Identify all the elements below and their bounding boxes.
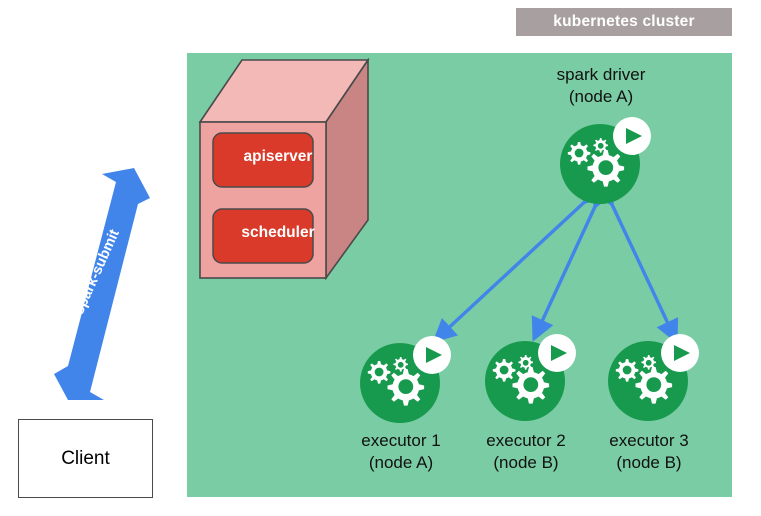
spark-driver-caption: spark driver (node A) (521, 64, 681, 108)
gear-medium-icon (493, 359, 516, 382)
spark-driver-node (556, 112, 652, 208)
client-box: Client (18, 419, 153, 498)
gear-large-icon (388, 369, 425, 406)
scheduler-label: scheduler (217, 224, 339, 242)
diagram-canvas: kubernetes cluster apiserver scheduler C… (0, 0, 761, 516)
gear-medium-icon (616, 359, 639, 382)
gear-small-icon (593, 138, 608, 153)
executor-2-node (481, 329, 577, 425)
gear-large-icon (513, 367, 550, 404)
control-plane-cube: apiserver scheduler (198, 58, 370, 280)
spark-submit-arrow: spark-submit (42, 168, 152, 400)
client-label: Client (61, 448, 110, 470)
executor-1-node (356, 331, 452, 427)
kubernetes-cluster-badge: kubernetes cluster (516, 8, 732, 36)
gear-medium-icon (368, 361, 391, 384)
executor-3-node (604, 329, 700, 425)
spark-submit-arrow-body (54, 168, 150, 400)
gear-small-icon (393, 357, 408, 372)
executor-3-caption: executor 3 (node B) (569, 430, 729, 474)
gear-small-icon (641, 355, 656, 370)
apiserver-label: apiserver (217, 148, 339, 166)
gear-medium-icon (568, 142, 591, 165)
gear-small-icon (518, 355, 533, 370)
gear-large-icon (588, 150, 625, 187)
gear-large-icon (636, 367, 673, 404)
